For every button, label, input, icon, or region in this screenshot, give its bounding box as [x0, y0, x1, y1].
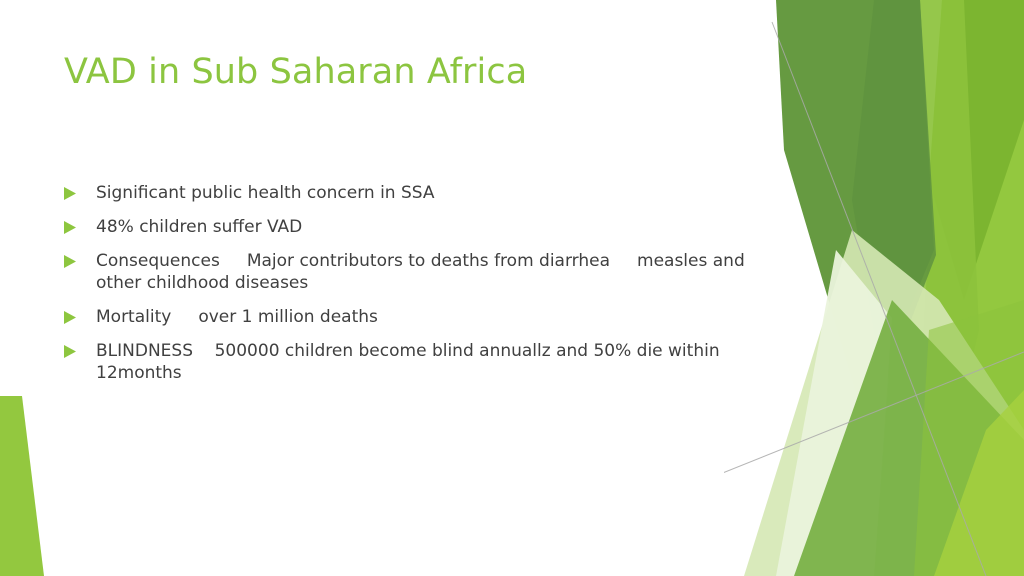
list-item-text: BLINDNESS 500000 children become blind a…	[96, 340, 764, 384]
page-title: VAD in Sub Saharan Africa	[64, 52, 527, 92]
slide-canvas: VAD in Sub Saharan Africa Significant pu…	[0, 0, 1024, 576]
deco-shape-deep-green-overlap	[852, 0, 936, 390]
decorative-green-polygons-right	[724, 0, 1024, 576]
deco-shape-bright-bottom-right	[934, 390, 1024, 576]
list-item: Mortality over 1 million deaths	[64, 306, 764, 328]
deco-shape-dark-wedge-top	[776, 0, 934, 420]
deco-hairline-1	[772, 22, 986, 576]
list-item: Significant public health concern in SSA	[64, 182, 764, 204]
triangle-right-icon	[64, 311, 76, 324]
list-item: Consequences Major contributors to death…	[64, 250, 764, 294]
deco-shape-mid-green-sliver	[874, 0, 979, 576]
list-item: 48% children suffer VAD	[64, 216, 764, 238]
deco-shape-bright-right	[910, 0, 1024, 576]
deco-shape-pale-lower-left	[744, 230, 1024, 576]
deco-shape-olive-upper-right	[929, 0, 1024, 300]
triangle-right-icon	[64, 345, 76, 358]
list-item-text: Consequences Major contributors to death…	[96, 250, 764, 294]
list-item: BLINDNESS 500000 children become blind a…	[64, 340, 764, 384]
deco-shape-light-green-lower	[914, 300, 1024, 576]
deco-shape-mid-green-lower	[794, 300, 1024, 576]
list-item-text: 48% children suffer VAD	[96, 216, 764, 238]
list-item-text: Significant public health concern in SSA	[96, 182, 764, 204]
list-item-text: Mortality over 1 million deaths	[96, 306, 764, 328]
deco-shape-corner-wedge	[0, 396, 44, 576]
decorative-green-wedge-bottom-left	[0, 396, 120, 576]
bullet-list: Significant public health concern in SSA…	[64, 182, 764, 396]
triangle-right-icon	[64, 187, 76, 200]
deco-hairline-2	[724, 352, 1024, 576]
triangle-right-icon	[64, 221, 76, 234]
deco-shape-very-pale-sheet	[776, 250, 892, 576]
triangle-right-icon	[64, 255, 76, 268]
